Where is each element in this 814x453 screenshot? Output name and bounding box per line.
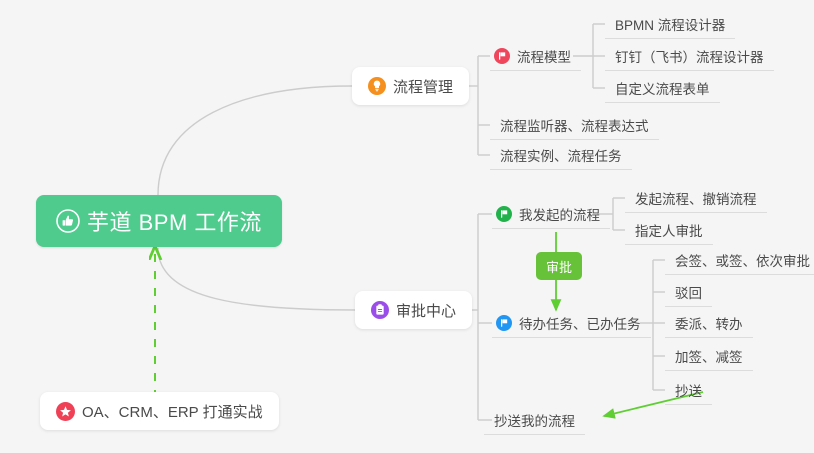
star-icon	[56, 402, 75, 421]
root-node-label: 芋道 BPM 工作流	[87, 205, 262, 237]
mindmap-canvas: 芋道 BPM 工作流 流程管理 流程模型 BPMN 流程设计器 钉钉（飞书）流程	[0, 0, 814, 453]
thumbs-up-icon	[56, 209, 80, 233]
lightbulb-icon	[368, 77, 386, 95]
wire-root-to-approval-center	[158, 248, 355, 310]
root-node[interactable]: 芋道 BPM 工作流	[36, 195, 282, 247]
callout-integration[interactable]: OA、CRM、ERP 打通实战	[40, 392, 279, 430]
leaf-delegate-transfer-label: 委派、转办	[675, 313, 743, 333]
leaf-cc-to-me[interactable]: 抄送我的流程	[484, 405, 585, 435]
leaf-reject[interactable]: 驳回	[665, 277, 712, 307]
leaf-bpmn-designer[interactable]: BPMN 流程设计器	[605, 9, 735, 39]
leaf-assignee-approve-label: 指定人审批	[635, 220, 703, 240]
leaf-counter-sign[interactable]: 会签、或签、依次审批	[665, 245, 814, 275]
leaf-custom-form-label: 自定义流程表单	[615, 78, 710, 98]
leaf-custom-form[interactable]: 自定义流程表单	[605, 73, 720, 103]
flag-red-icon	[494, 48, 510, 64]
leaf-process-listener[interactable]: 流程监听器、流程表达式	[490, 110, 659, 140]
leaf-add-remove-sign[interactable]: 加签、减签	[665, 341, 753, 371]
leaf-process-instance[interactable]: 流程实例、流程任务	[490, 140, 632, 170]
leaf-process-instance-label: 流程实例、流程任务	[500, 145, 622, 165]
leaf-cc-to-me-label: 抄送我的流程	[494, 410, 575, 430]
clipboard-icon	[371, 301, 389, 319]
node-process-model[interactable]: 流程模型	[490, 41, 581, 71]
leaf-delegate-transfer[interactable]: 委派、转办	[665, 308, 753, 338]
branch-approval-center[interactable]: 审批中心	[355, 291, 472, 329]
leaf-dingtalk-designer-label: 钉钉（飞书）流程设计器	[615, 46, 764, 66]
leaf-reject-label: 驳回	[675, 282, 702, 302]
leaf-counter-sign-label: 会签、或签、依次审批	[675, 250, 810, 270]
branch-approval-center-label: 审批中心	[396, 300, 456, 321]
leaf-bpmn-designer-label: BPMN 流程设计器	[615, 14, 725, 34]
branch-process-management-label: 流程管理	[393, 76, 453, 97]
leaf-add-remove-sign-label: 加签、减签	[675, 346, 743, 366]
leaf-assignee-approve[interactable]: 指定人审批	[625, 215, 713, 245]
node-process-model-label: 流程模型	[517, 46, 571, 66]
approval-tag-label: 审批	[546, 257, 572, 276]
callout-integration-label: OA、CRM、ERP 打通实战	[82, 401, 263, 422]
node-todo-done-label: 待办任务、已办任务	[519, 313, 641, 333]
wire-root-to-process-management	[158, 86, 352, 195]
leaf-cc[interactable]: 抄送	[665, 375, 712, 405]
leaf-dingtalk-designer[interactable]: 钉钉（飞书）流程设计器	[605, 41, 774, 71]
leaf-cc-label: 抄送	[675, 380, 702, 400]
flag-blue-icon	[496, 315, 512, 331]
flag-green-icon	[496, 206, 512, 222]
approval-tag[interactable]: 审批	[536, 252, 582, 280]
node-my-initiated[interactable]: 我发起的流程	[492, 199, 610, 229]
branch-process-management[interactable]: 流程管理	[352, 67, 469, 105]
node-todo-done[interactable]: 待办任务、已办任务	[492, 308, 651, 338]
leaf-process-listener-label: 流程监听器、流程表达式	[500, 115, 649, 135]
node-my-initiated-label: 我发起的流程	[519, 204, 600, 224]
leaf-start-cancel-label: 发起流程、撤销流程	[635, 188, 757, 208]
leaf-start-cancel[interactable]: 发起流程、撤销流程	[625, 183, 767, 213]
